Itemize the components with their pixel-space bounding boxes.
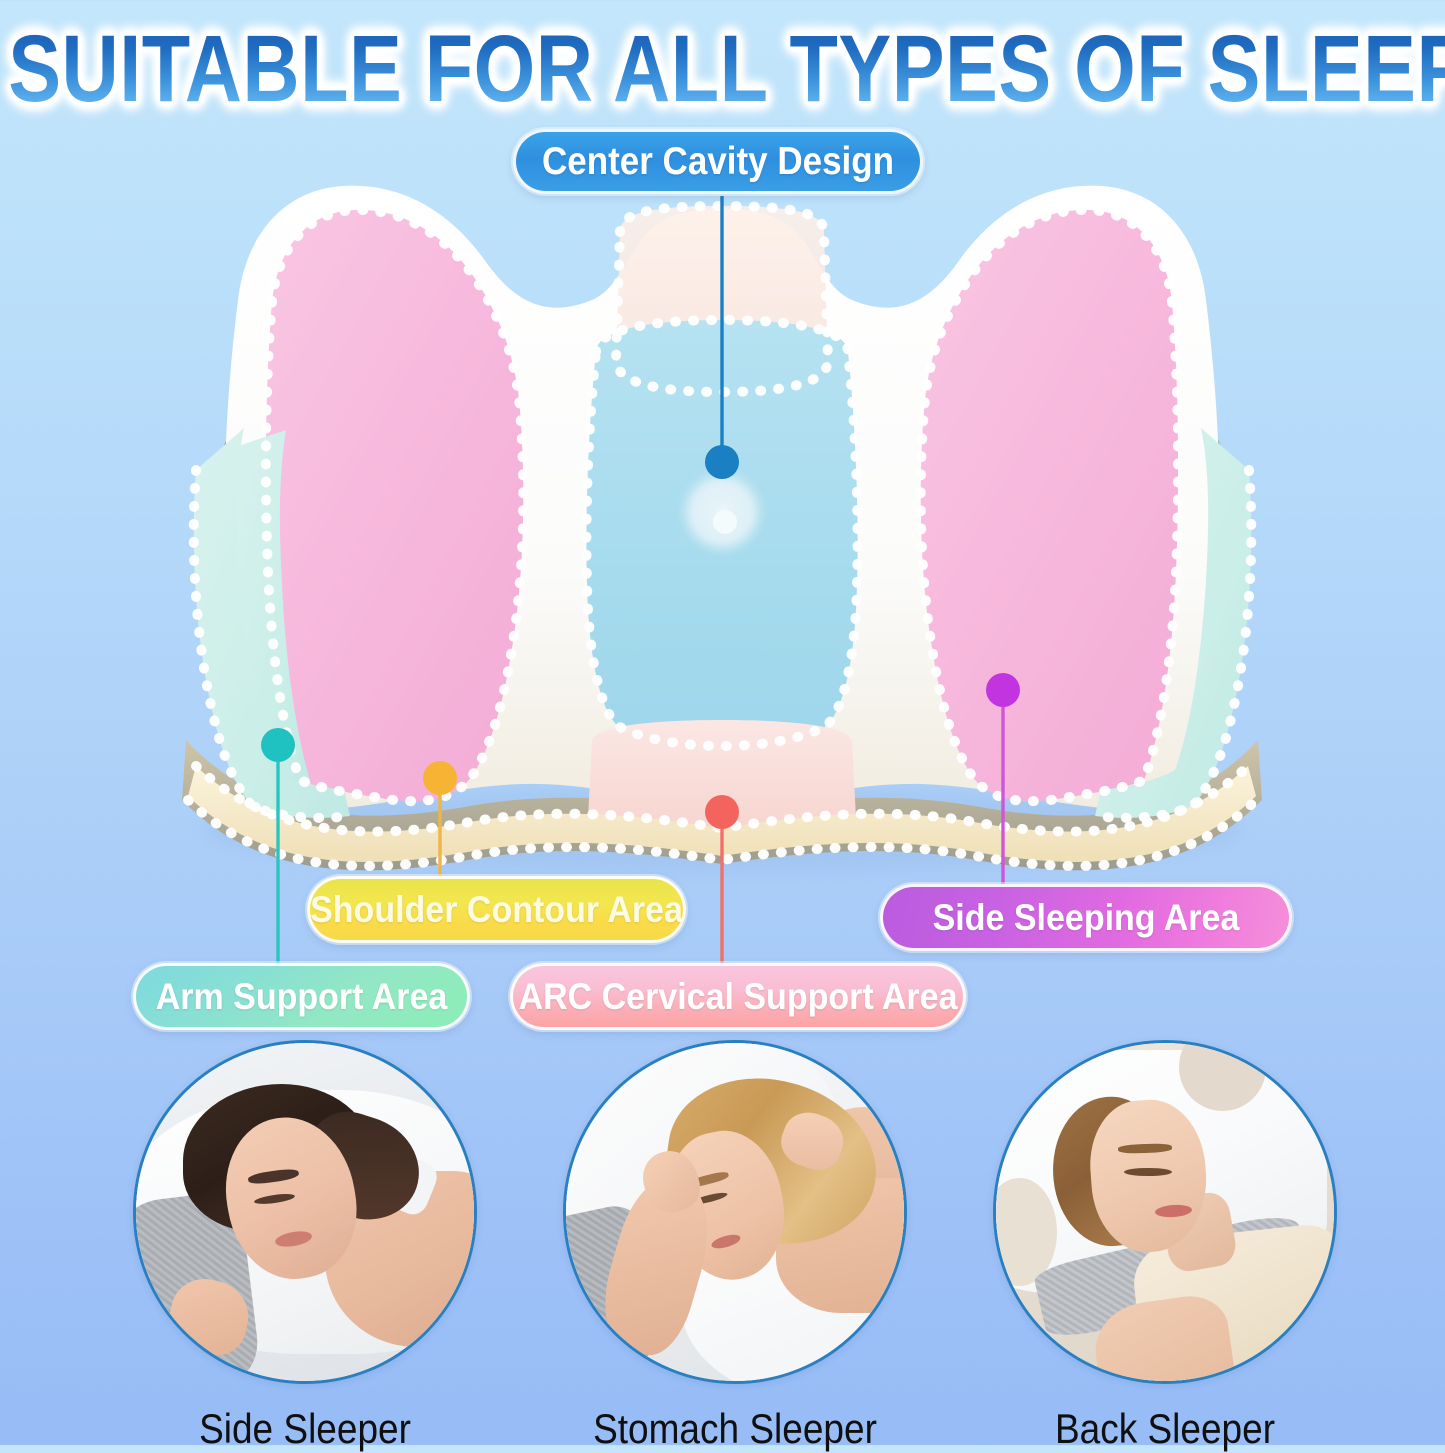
- callout-pill-arm-support[interactable]: Arm Support Area: [133, 963, 470, 1030]
- sleeper-photo-side[interactable]: Side Sleeper: [133, 1040, 477, 1448]
- photo-scene-stomach-sleeper: [566, 1043, 904, 1381]
- callout-pill-shoulder-contour[interactable]: Shoulder Contour Area: [307, 876, 686, 943]
- page-title-container: SUITABLE FOR ALL TYPES OF SLEEPERS: [0, 22, 1445, 102]
- photo-circle-back-sleeper[interactable]: [993, 1040, 1337, 1384]
- sleeper-photo-back[interactable]: Back Sleeper: [993, 1040, 1337, 1448]
- page-title: SUITABLE FOR ALL TYPES OF SLEEPERS: [8, 22, 1445, 116]
- callout-pill-center-cavity[interactable]: Center Cavity Design: [513, 129, 923, 194]
- callout-label-arc-cervical: ARC Cervical Support Area: [519, 978, 958, 1015]
- callout-pill-side-sleeping[interactable]: Side Sleeping Area: [880, 884, 1292, 951]
- caption-side-sleeper: Side Sleeper: [133, 1406, 477, 1453]
- photo-scene-back-sleeper: [996, 1043, 1334, 1381]
- callout-label-side-sleeping: Side Sleeping Area: [933, 899, 1240, 936]
- photo-circle-side-sleeper[interactable]: [133, 1040, 477, 1384]
- caption-stomach-sleeper: Stomach Sleeper: [563, 1406, 907, 1453]
- photo-circle-stomach-sleeper[interactable]: [563, 1040, 907, 1384]
- callout-label-center-cavity: Center Cavity Design: [542, 142, 894, 181]
- callout-label-arm-support: Arm Support Area: [156, 978, 448, 1015]
- sleeper-photo-stomach[interactable]: Stomach Sleeper: [563, 1040, 907, 1448]
- callout-pill-arc-cervical[interactable]: ARC Cervical Support Area: [510, 963, 966, 1030]
- photo-scene-side-sleeper: [136, 1043, 474, 1381]
- callout-label-shoulder-contour: Shoulder Contour Area: [310, 891, 683, 928]
- sleeper-photo-row: Side Sleeper Stomach Sleeper: [0, 1040, 1445, 1445]
- caption-back-sleeper: Back Sleeper: [993, 1406, 1337, 1453]
